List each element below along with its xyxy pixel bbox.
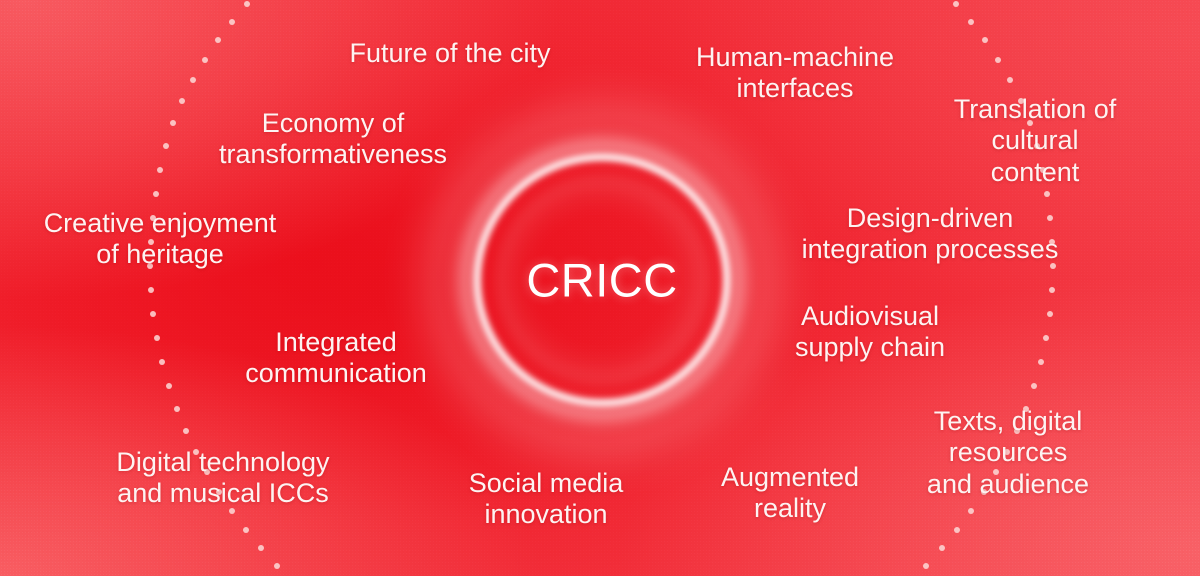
arc-dot [229, 19, 235, 25]
arc-dot [954, 527, 960, 533]
arc-dot [939, 545, 945, 551]
theme-label-texts-digital-resources[interactable]: Texts, digital resources and audience [912, 406, 1104, 500]
arc-dot [190, 77, 196, 83]
arc-dot [243, 527, 249, 533]
arc-dot [1044, 191, 1050, 197]
theme-label-creative-enjoyment[interactable]: Creative enjoyment of heritage [44, 208, 277, 271]
diagram-canvas: CRICC Future of the cityHuman-machine in… [0, 0, 1200, 576]
arc-dot [923, 563, 929, 569]
arc-dot [953, 1, 959, 7]
arc-dot [1031, 383, 1037, 389]
arc-dot [982, 37, 988, 43]
arc-dot [157, 167, 163, 173]
theme-label-human-machine-interfaces[interactable]: Human-machine interfaces [696, 42, 894, 105]
arc-dot [174, 406, 180, 412]
theme-label-design-driven-integration[interactable]: Design-driven integration processes [802, 203, 1059, 266]
theme-label-digital-technology-iccs[interactable]: Digital technology and musical ICCs [116, 447, 329, 510]
theme-label-social-media-innovation[interactable]: Social media innovation [469, 468, 624, 531]
arc-dot [258, 545, 264, 551]
center-label: CRICC [526, 253, 677, 308]
arc-dot [183, 428, 189, 434]
arc-dot [1049, 287, 1055, 293]
arc-dot [154, 335, 160, 341]
arc-dot [170, 120, 176, 126]
arc-dot [968, 508, 974, 514]
arc-dot [1038, 359, 1044, 365]
arc-dot [148, 287, 154, 293]
arc-dot [968, 19, 974, 25]
arc-dot [163, 143, 169, 149]
arc-dot [244, 1, 250, 7]
arc-dot [1047, 311, 1053, 317]
theme-label-economy-transformativeness[interactable]: Economy of transformativeness [219, 108, 447, 171]
arc-dot [202, 57, 208, 63]
theme-label-future-of-the-city[interactable]: Future of the city [349, 38, 550, 69]
theme-label-augmented-reality[interactable]: Augmented reality [721, 462, 859, 525]
theme-label-translation-cultural[interactable]: Translation of cultural content [953, 94, 1118, 188]
theme-label-audiovisual-supply-chain[interactable]: Audiovisual supply chain [795, 301, 945, 364]
arc-dot [995, 57, 1001, 63]
arc-dot [274, 563, 280, 569]
arc-dot [1007, 77, 1013, 83]
arc-dot [150, 311, 156, 317]
arc-dot [153, 191, 159, 197]
arc-dot [159, 359, 165, 365]
arc-dot [179, 98, 185, 104]
arc-dot [1043, 335, 1049, 341]
arc-dot [166, 383, 172, 389]
arc-dot [215, 37, 221, 43]
theme-label-integrated-communication[interactable]: Integrated communication [245, 327, 427, 390]
